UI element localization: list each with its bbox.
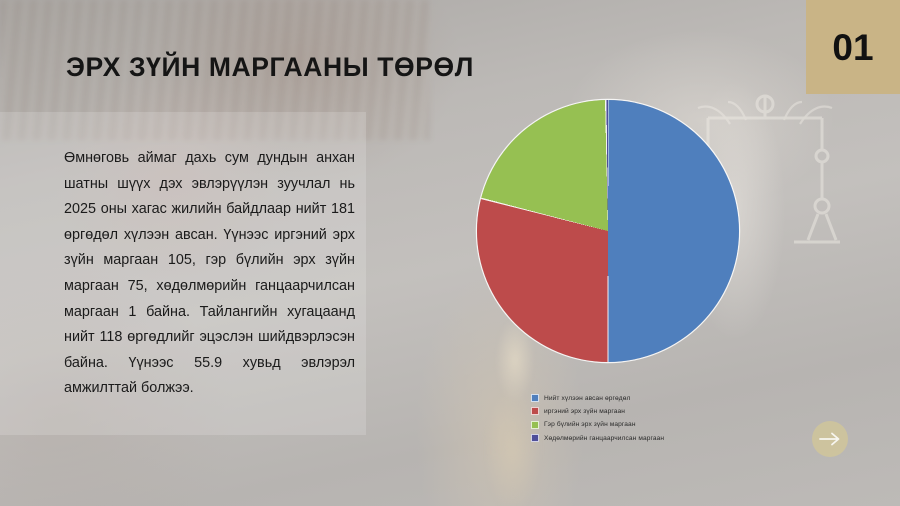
pie-circle xyxy=(477,100,739,362)
next-slide-button[interactable] xyxy=(812,421,848,457)
body-paragraph: Өмнөговь аймаг дахь сум дундын анхан шат… xyxy=(64,146,355,402)
arrow-right-icon xyxy=(819,432,841,446)
legend-swatch-icon xyxy=(531,394,539,402)
legend-swatch-icon xyxy=(531,421,539,429)
legend-item[interactable]: Нийт хүлээн авсан өргөдөл xyxy=(531,394,664,402)
pie-chart xyxy=(477,100,739,362)
slide-number-badge: 01 xyxy=(806,0,900,94)
legend-item[interactable]: иргэний эрх зүйн маргаан xyxy=(531,407,664,415)
legend-item[interactable]: Гэр бүлийн эрх зүйн маргаан xyxy=(531,421,664,429)
legend-label: Хөдөлмөрийн ганцаарчилсан маргаан xyxy=(544,435,664,442)
legend-item[interactable]: Хөдөлмөрийн ганцаарчилсан маргаан xyxy=(531,434,664,442)
slide-number-text: 01 xyxy=(832,29,873,66)
legend-label: Гэр бүлийн эрх зүйн маргаан xyxy=(544,421,636,428)
slide: 01 ЭРХ ЗҮЙН МАРГААНЫ ТӨРӨЛ Өмнөговь айма… xyxy=(0,0,900,506)
legend-swatch-icon xyxy=(531,434,539,442)
chart-legend: Нийт хүлээн авсан өргөдөлиргэний эрх зүй… xyxy=(531,394,664,442)
legend-label: Нийт хүлээн авсан өргөдөл xyxy=(544,395,630,402)
page-title: ЭРХ ЗҮЙН МАРГААНЫ ТӨРӨЛ xyxy=(66,52,474,83)
legend-label: иргэний эрх зүйн маргаан xyxy=(544,408,625,415)
legend-swatch-icon xyxy=(531,407,539,415)
pie-slice-separators xyxy=(477,100,739,362)
